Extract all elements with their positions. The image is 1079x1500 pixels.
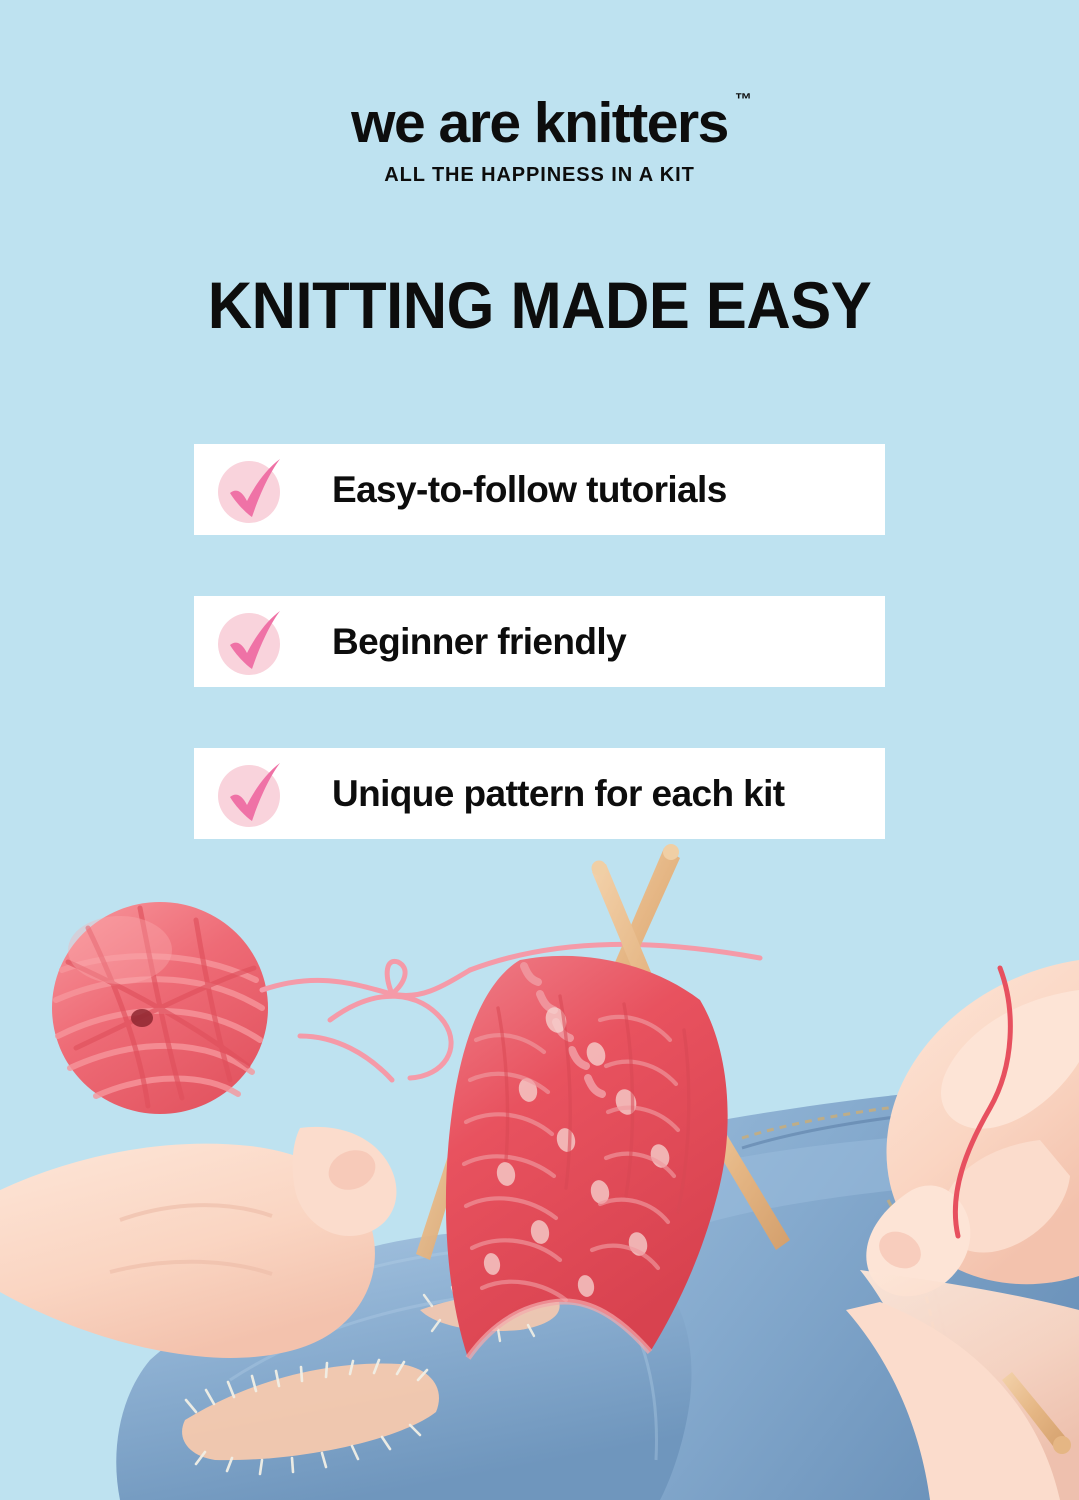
feature-card: Beginner friendly xyxy=(194,596,885,687)
feature-label: Unique pattern for each kit xyxy=(332,773,785,815)
page-title: KNITTING MADE EASY xyxy=(38,272,1041,338)
feature-label: Easy-to-follow tutorials xyxy=(332,469,727,511)
feature-card: Unique pattern for each kit xyxy=(194,748,885,839)
brand-logo: we are knitters™ xyxy=(351,95,728,152)
feature-list: Easy-to-follow tutorials Beginner friend… xyxy=(194,444,885,839)
hero-photo xyxy=(0,840,1079,1500)
feature-card: Easy-to-follow tutorials xyxy=(194,444,885,535)
trademark-symbol: ™ xyxy=(735,91,752,108)
photo-illustration xyxy=(0,840,1079,1500)
brand-name: we are knitters xyxy=(351,91,728,155)
feature-label: Beginner friendly xyxy=(332,621,626,663)
yarn-ball xyxy=(52,902,268,1114)
poster: we are knitters™ ALL THE HAPPINESS IN A … xyxy=(0,0,1079,1500)
check-icon xyxy=(218,457,280,523)
brand-block: we are knitters™ ALL THE HAPPINESS IN A … xyxy=(0,95,1079,187)
check-icon xyxy=(218,761,280,827)
brand-tagline: ALL THE HAPPINESS IN A KIT xyxy=(0,164,1079,187)
check-icon xyxy=(218,609,280,675)
